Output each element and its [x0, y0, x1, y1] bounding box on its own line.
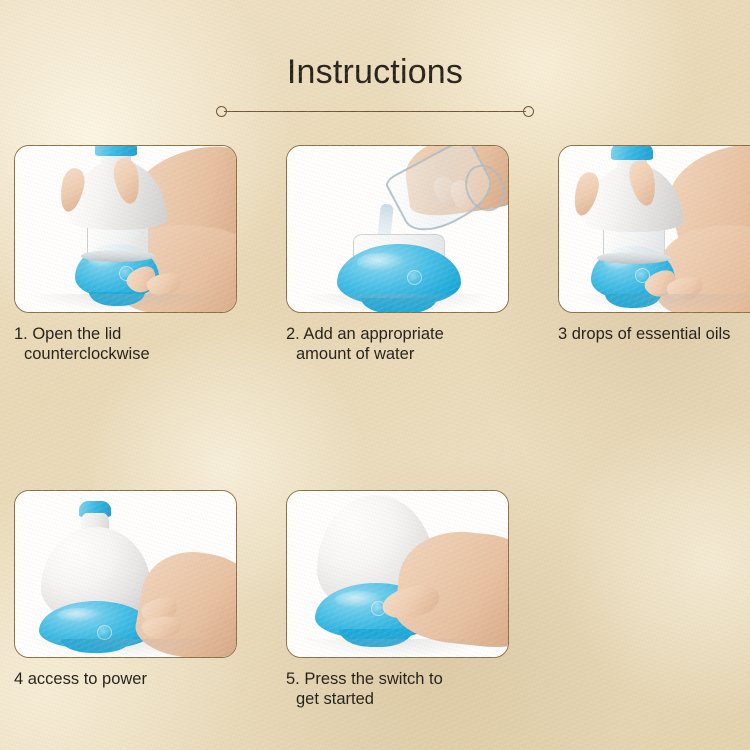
base-foot: [361, 298, 437, 313]
step-4-image: [14, 490, 237, 658]
power-button-icon: [407, 270, 422, 285]
step-2-image: ≡: [286, 145, 509, 313]
scene-essential-oils: [559, 146, 750, 312]
title-divider: [216, 102, 534, 116]
step-5: 5. Press the switch to get started: [286, 490, 509, 709]
right-hand: [132, 544, 237, 658]
step-3-image: [558, 145, 750, 313]
base-foot: [89, 292, 145, 306]
base-foot: [61, 639, 131, 653]
steps-row-top: 1. Open the lid counterclockwise: [14, 145, 750, 364]
step-5-caption: 5. Press the switch to get started: [286, 669, 509, 709]
divider-dot-right-icon: [523, 106, 534, 117]
mist-nozzle: [95, 145, 137, 156]
step-4-caption: 4 access to power: [14, 669, 237, 689]
base-foot: [605, 294, 661, 308]
step-2-caption: 2. Add an appropriate amount of water: [286, 324, 509, 364]
step-3-caption: 3 drops of essential oils: [558, 324, 750, 344]
divider-line: [224, 111, 526, 112]
step-2: ≡ 2. Add an appropriate amount of water: [286, 145, 509, 364]
step-5-image: [286, 490, 509, 658]
power-button-icon: [97, 625, 112, 640]
steps-grid: 1. Open the lid counterclockwise: [14, 145, 750, 709]
scene-add-water: ≡: [287, 146, 508, 312]
page-header: Instructions: [0, 52, 750, 116]
mist-nozzle: [611, 145, 653, 160]
step-1-caption: 1. Open the lid counterclockwise: [14, 324, 237, 364]
page-title: Instructions: [0, 52, 750, 92]
tank-rim: [597, 252, 671, 264]
scene-press-switch: [287, 491, 508, 657]
step-3: 3 drops of essential oils: [558, 145, 750, 364]
instructions-page: Instructions: [0, 0, 750, 750]
step-1-image: [14, 145, 237, 313]
tank-rim: [81, 250, 155, 262]
scene-access-power: [15, 491, 236, 657]
base-foot: [339, 629, 413, 647]
scene-open-lid: [15, 146, 236, 312]
steps-row-bottom: 4 access to power 5. Press the switch t: [14, 490, 750, 709]
step-1: 1. Open the lid counterclockwise: [14, 145, 237, 364]
step-4: 4 access to power: [14, 490, 237, 709]
